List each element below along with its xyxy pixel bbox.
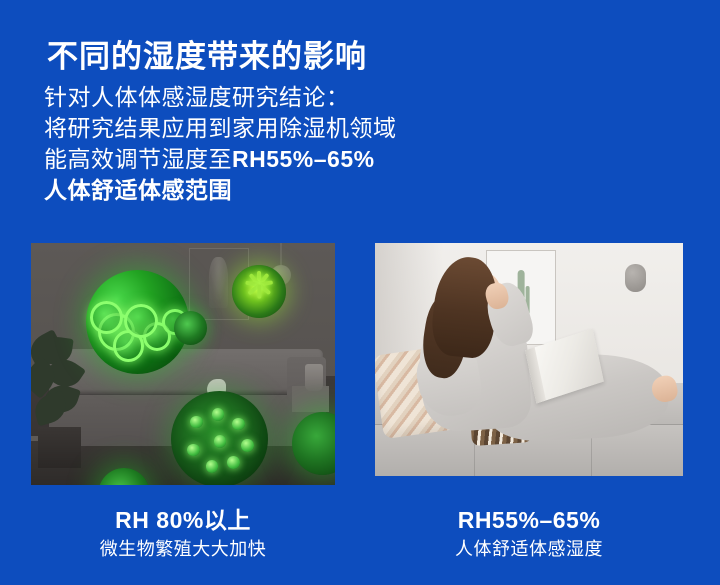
microbe-cell [90, 301, 123, 334]
microbe-knob [187, 444, 200, 457]
microbe-knob [232, 418, 245, 431]
caption-comfort-humidity: RH55%–65% 人体舒适体感湿度 [375, 506, 683, 562]
pendant-lamp [280, 243, 282, 265]
microbe-spike [257, 285, 261, 299]
intro-line-2: 将研究结果应用到家用除湿机领域 [44, 113, 397, 144]
photo-high-humidity [31, 243, 335, 485]
microbe-knob [206, 460, 219, 473]
potted-plant [31, 333, 95, 469]
photo-comfort-humidity [375, 243, 683, 476]
caption-subtitle: 人体舒适体感湿度 [375, 536, 683, 562]
microbe-cell [113, 330, 145, 362]
intro-line-3-emphasis: RH55%–65% [232, 146, 375, 172]
page-title: 不同的湿度带来的影响 [47, 37, 367, 77]
caption-high-humidity: RH 80%以上 微生物繁殖大大加快 [31, 506, 335, 562]
intro-line-3: 能高效调节湿度至RH55%–65% [44, 144, 397, 175]
plant-pot [38, 427, 81, 468]
intro-line-4: 人体舒适体感范围 [44, 175, 397, 206]
humidity-infographic-poster: 不同的湿度带来的影响 针对人体体感湿度研究结论： 将研究结果应用到家用除湿机领域… [0, 0, 720, 585]
microbe-sphere-knobbed [171, 391, 268, 485]
microbe-knob [241, 439, 254, 452]
microbe-knob [212, 408, 225, 421]
microbe-knob [214, 435, 227, 448]
caption-subtitle: 微生物繁殖大大加快 [31, 536, 335, 562]
intro-line-1: 针对人体体感湿度研究结论： [44, 82, 397, 113]
bright-room-scene [375, 243, 683, 476]
caption-title: RH55%–65% [375, 506, 683, 534]
caption-title: RH 80%以上 [31, 506, 335, 534]
intro-paragraph: 针对人体体感湿度研究结论： 将研究结果应用到家用除湿机领域 能高效调节湿度至RH… [44, 82, 397, 206]
dark-room-scene [31, 243, 335, 485]
microbe-sphere-spiky [232, 265, 287, 318]
microbe-sphere-small [174, 311, 207, 345]
microbe-knob [227, 456, 240, 469]
vase [305, 364, 323, 391]
intro-line-3-prefix: 能高效调节湿度至 [44, 146, 232, 172]
microbe-sphere-large [86, 270, 189, 374]
wall-speaker [625, 264, 647, 292]
microbe-knob [190, 416, 203, 429]
